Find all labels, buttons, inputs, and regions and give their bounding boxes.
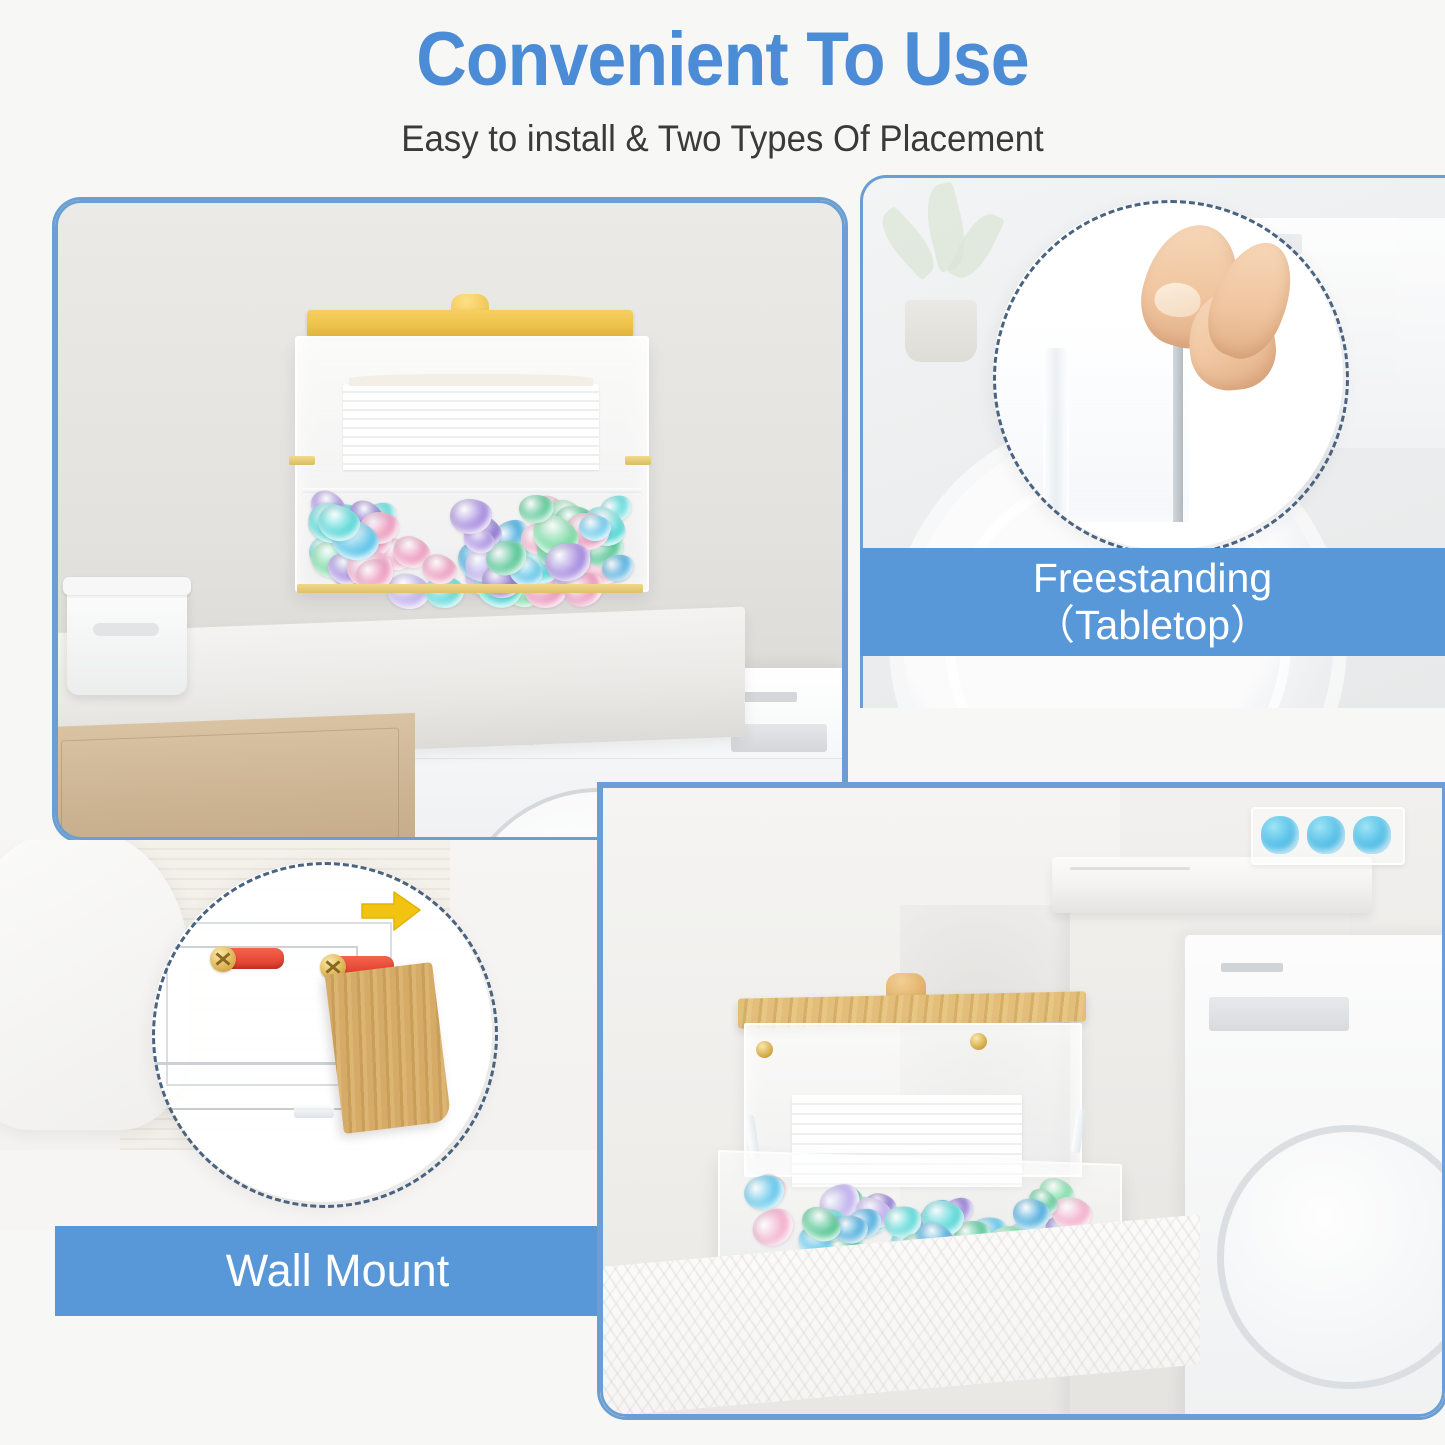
bamboo-lid — [307, 310, 633, 338]
tray-pod-2 — [1307, 816, 1345, 854]
wood-cabinet — [55, 713, 415, 840]
wall-mounted-scene-inner — [600, 785, 1445, 1417]
wall-mount-scene-inner — [0, 840, 620, 1230]
tray-pod-1 — [1261, 816, 1299, 854]
banner-freestanding-line2: （Tabletop） — [1033, 602, 1272, 649]
bamboo-lid-open — [325, 962, 452, 1134]
wall-mount-screw-right — [970, 1033, 987, 1050]
wall-anchor-1 — [210, 946, 300, 972]
dryer-sheets-stack — [343, 384, 599, 470]
bamboo-base-tray — [297, 584, 643, 593]
panel-wall-mount-callout — [0, 840, 620, 1230]
acrylic-body — [295, 336, 649, 592]
banner-freestanding-line1: Freestanding — [1033, 555, 1272, 602]
banner-freestanding: Freestanding （Tabletop） — [860, 548, 1445, 656]
thumbnail — [1153, 281, 1202, 320]
marble-countertop — [1052, 857, 1372, 913]
tray-pod-3 — [1353, 816, 1391, 854]
hinge-left-icon — [289, 456, 315, 465]
panel-wall-mounted-scene — [600, 785, 1445, 1417]
banner-wall-mount-label: Wall Mount — [226, 1245, 449, 1296]
pod-tray — [1251, 807, 1405, 865]
white-storage-basket — [67, 585, 187, 695]
basket-lid — [63, 577, 191, 595]
side-washer-door — [1217, 1125, 1445, 1389]
detergent-drawer — [731, 724, 827, 752]
page-subtitle: Easy to install & Two Types Of Placement — [43, 120, 1401, 157]
banner-wall-mount: Wall Mount — [55, 1226, 620, 1316]
hinge-right-icon — [625, 456, 651, 465]
side-washer-drawer — [1209, 997, 1349, 1031]
page-title: Convenient To Use — [58, 22, 1387, 98]
basket-handle-slot — [93, 623, 159, 636]
lid-edge — [1173, 322, 1183, 522]
install-arrow-icon — [360, 888, 422, 936]
mounting-arm — [294, 1104, 334, 1118]
infographic-canvas: Convenient To Use Easy to install & Two … — [0, 0, 1445, 1445]
product-box-tabletop — [295, 310, 645, 620]
lid-detail-circle — [993, 200, 1343, 550]
acrylic-lid-panel — [993, 320, 1191, 524]
tabletop-scene-inner — [55, 200, 845, 840]
washer-logo — [1221, 963, 1283, 972]
panel-freestanding-scene — [55, 200, 845, 840]
hardware-detail-circle — [152, 862, 492, 1202]
side-washing-machine — [1185, 935, 1445, 1417]
lid-post — [1043, 348, 1069, 516]
plant-pot — [905, 300, 977, 362]
gold-screw-1 — [210, 946, 236, 972]
wall-mount-screw-left — [756, 1041, 773, 1058]
